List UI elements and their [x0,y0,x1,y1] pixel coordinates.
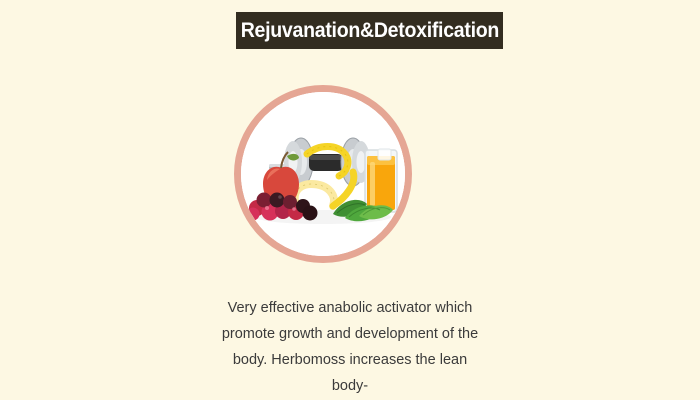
fitness-illustration [241,92,405,256]
product-card: Rejuvanation&Detoxification [0,0,700,400]
product-description: Very effective anabolic activator which … [0,295,700,395]
description-line: body. Herbomoss increases the lean [0,347,700,373]
product-image-circle [234,85,412,263]
description-line: Very effective anabolic activator which [0,295,700,321]
title-banner: Rejuvanation&Detoxification [236,12,503,49]
page-title: Rejuvanation&Detoxification [240,20,498,41]
health-and-fitness-photo [241,92,405,256]
description-line: promote growth and development of the [0,321,700,347]
description-line-truncated: body- [0,373,700,395]
